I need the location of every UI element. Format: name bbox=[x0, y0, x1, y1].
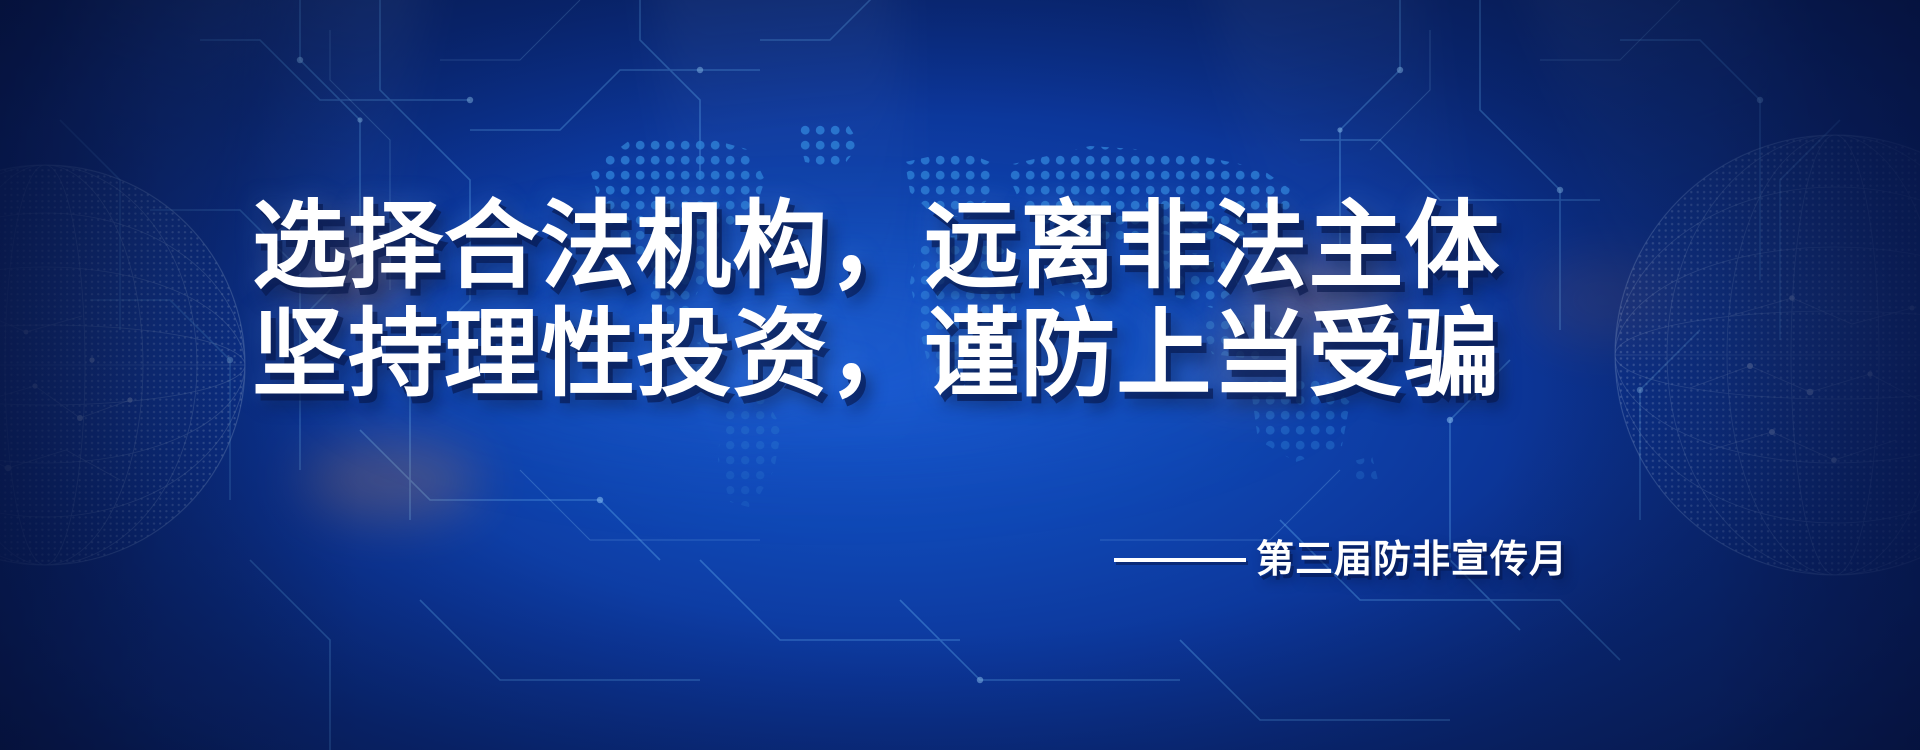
signature-text: 第三届防非宣传月 bbox=[1256, 538, 1568, 582]
headline-block: 选择合法机构，远离非法主体 坚持理性投资，谨防上当受骗 bbox=[252, 196, 1372, 406]
light-beam-icon bbox=[1486, 0, 1899, 425]
lens-flare-icon bbox=[300, 440, 480, 520]
signature-rule bbox=[1114, 558, 1246, 562]
promo-banner: 选择合法机构，远离非法主体 坚持理性投资，谨防上当受骗 第三届防非宣传月 bbox=[0, 0, 1920, 750]
wireframe-globe-icon bbox=[1600, 120, 1920, 590]
right-edge-shade bbox=[1500, 0, 1920, 750]
signature-block: 第三届防非宣传月 bbox=[1114, 538, 1568, 582]
headline-line-1: 选择合法机构，远离非法主体 bbox=[252, 196, 1361, 298]
wireframe-globe-icon bbox=[0, 150, 260, 580]
lens-flare-icon bbox=[1530, 255, 1680, 345]
headline-line-2: 坚持理性投资，谨防上当受骗 bbox=[252, 304, 1361, 406]
